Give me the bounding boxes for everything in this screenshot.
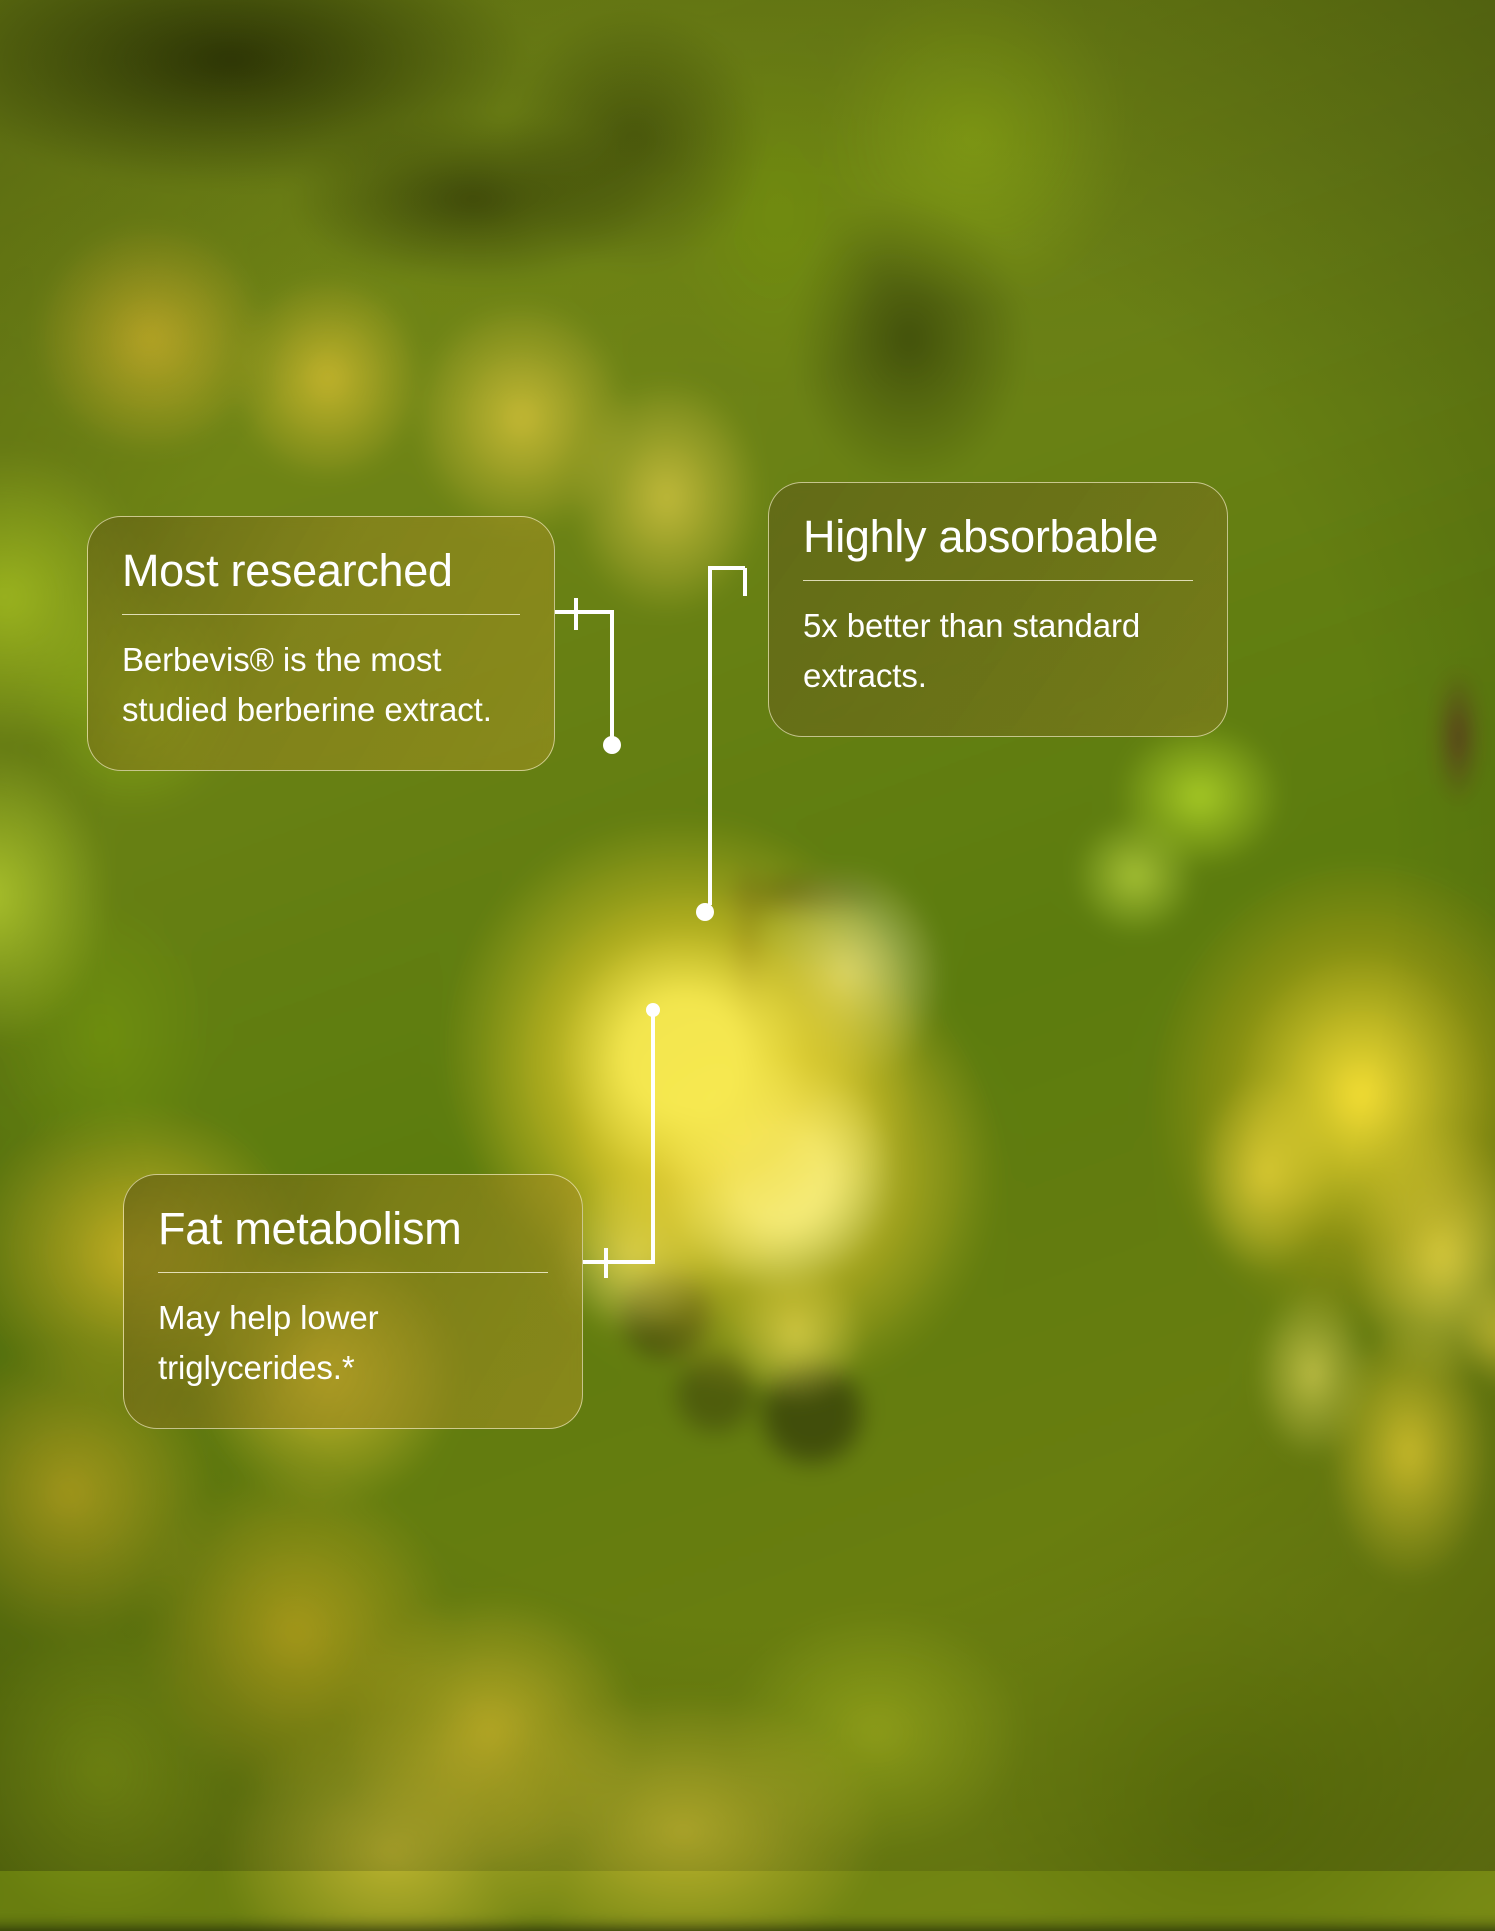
card-body-highly-absorbable: 5x better than standard extracts. [803, 601, 1193, 700]
card-body-line: triglycerides.* [158, 1343, 548, 1393]
card-body-most-researched: Berbevis® is the most studied berberine … [122, 635, 520, 734]
card-divider-fat-metabolism [158, 1272, 548, 1274]
info-card-most-researched[interactable]: Most researched Berbevis® is the most st… [87, 516, 555, 771]
background-photo [0, 0, 1495, 1931]
info-card-highly-absorbable[interactable]: Highly absorbable 5x better than standar… [768, 482, 1228, 737]
card-body-fat-metabolism: May help lower triglycerides.* [158, 1293, 548, 1392]
card-body-line: studied berberine extract. [122, 685, 520, 735]
card-title-highly-absorbable: Highly absorbable [803, 513, 1193, 562]
card-body-line: May help lower [158, 1293, 548, 1343]
card-title-most-researched: Most researched [122, 547, 520, 596]
card-divider-highly-absorbable [803, 580, 1193, 582]
card-body-line: Berbevis® is the most [122, 635, 520, 685]
card-body-line: 5x better than standard [803, 601, 1193, 651]
info-card-fat-metabolism[interactable]: Fat metabolism May help lower triglyceri… [123, 1174, 583, 1429]
card-body-line: extracts. [803, 651, 1193, 701]
card-divider-most-researched [122, 614, 520, 616]
card-title-fat-metabolism: Fat metabolism [158, 1205, 548, 1254]
